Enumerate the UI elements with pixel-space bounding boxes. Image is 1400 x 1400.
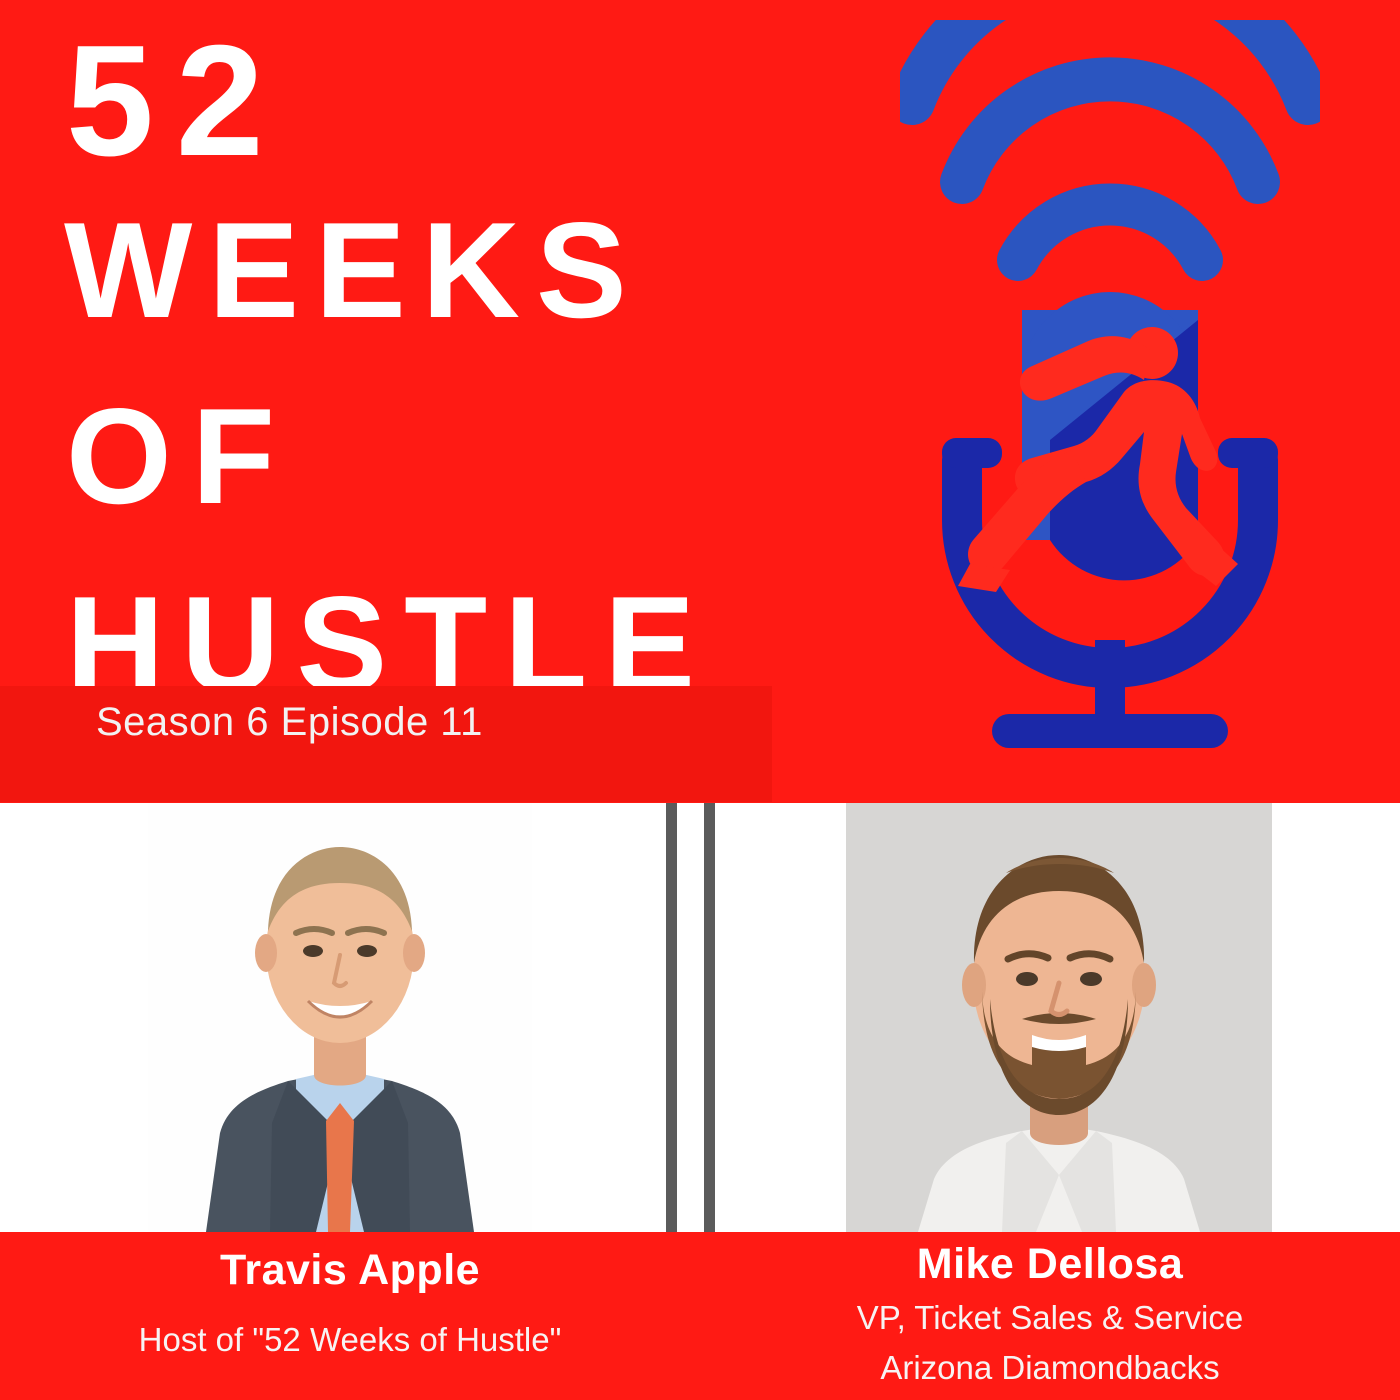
title-line-of: OF [66,388,842,524]
podcast-microphone-icon [900,20,1320,780]
guest-name-right: Mike Dellosa [700,1240,1400,1289]
guest-block-left: Travis Apple Host of "52 Weeks of Hustle… [0,1232,700,1361]
title-line-number: 52 [66,22,842,180]
podcast-cover-art: 52 WEEKS OF HUSTLE Season 6 Episode 11 [0,0,1400,1400]
guest-name-left: Travis Apple [0,1246,700,1295]
signal-arcs-icon [912,20,1308,260]
show-title: 52 WEEKS OF HUSTLE [62,22,842,712]
season-episode-label: Season 6 Episode 11 [96,700,483,745]
guest-block-right: Mike Dellosa VP, Ticket Sales & Service … [700,1232,1400,1389]
mic-stand-cap-right [1218,438,1278,468]
photo-divider-bar-left [666,803,677,1232]
headshot-mike-dellosa [846,803,1272,1232]
guest-role-right-line-2: Arizona Diamondbacks [700,1347,1400,1389]
guest-role-left-line-1: Host of "52 Weeks of Hustle" [0,1319,700,1361]
mic-stand-post [1095,640,1125,720]
guest-role-right-line-1: VP, Ticket Sales & Service [700,1297,1400,1339]
mic-stand-base [992,714,1228,748]
photo-divider-bar-right [704,803,715,1232]
headshot-travis-apple [148,803,532,1232]
mic-stand-cap-left [942,438,1002,468]
title-line-weeks: WEEKS [64,202,842,338]
